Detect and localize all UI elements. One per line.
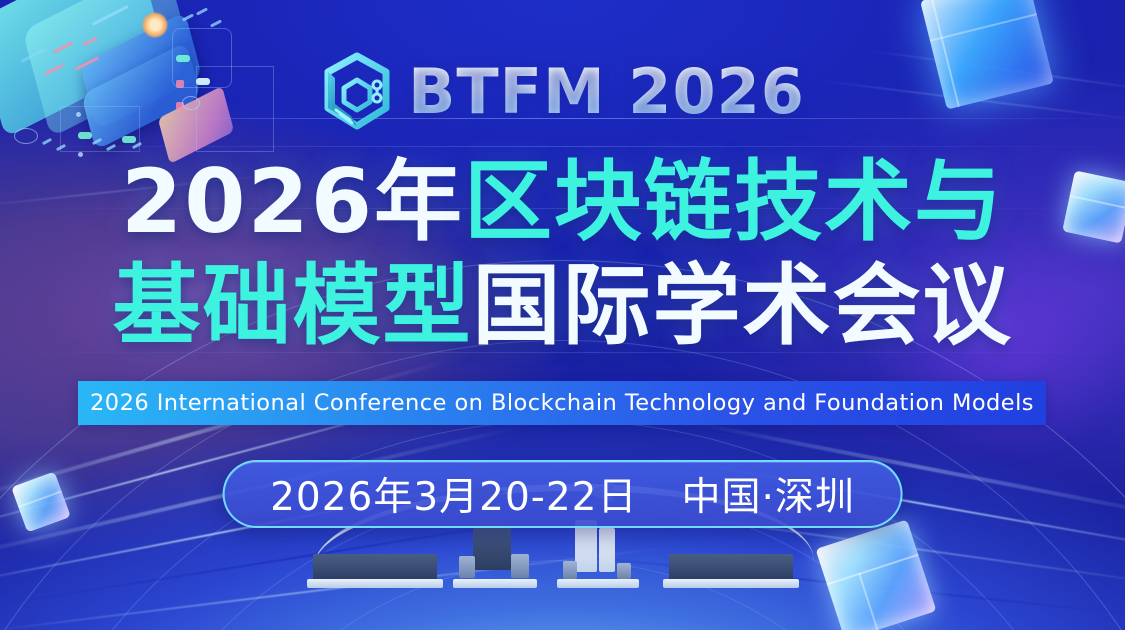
brand-title: BTFM 2026 [408,61,805,123]
conference-date: 2026年3月20-22日 [270,466,637,522]
title-line-1: 2026年区块链技术与 [0,150,1125,254]
brand-lockup: BTFM 2026 [0,52,1125,132]
hexagon-blockchain-cube-icon [320,52,394,132]
subtitle-band: 2026 International Conference on Blockch… [78,381,1046,425]
title-line2-part2: 国际学术会议 [473,254,1013,357]
title-line1-part1: 2026年 [121,150,464,253]
date-location-pill: 2026年3月20-22日 中国·深圳 [222,460,903,528]
conference-location: 中国·深圳 [681,466,854,522]
subtitle-text: 2026 International Conference on Blockch… [90,390,1034,416]
title-line1-part2: 区块链技术与 [464,150,1004,253]
title-line2-part1: 基础模型 [112,254,472,357]
page-title: 2026年区块链技术与 基础模型国际学术会议 [0,150,1125,358]
title-line-2: 基础模型国际学术会议 [0,254,1125,358]
conference-banner: BTFM 2026 2026年区块链技术与 基础模型国际学术会议 2026 In… [0,0,1125,630]
